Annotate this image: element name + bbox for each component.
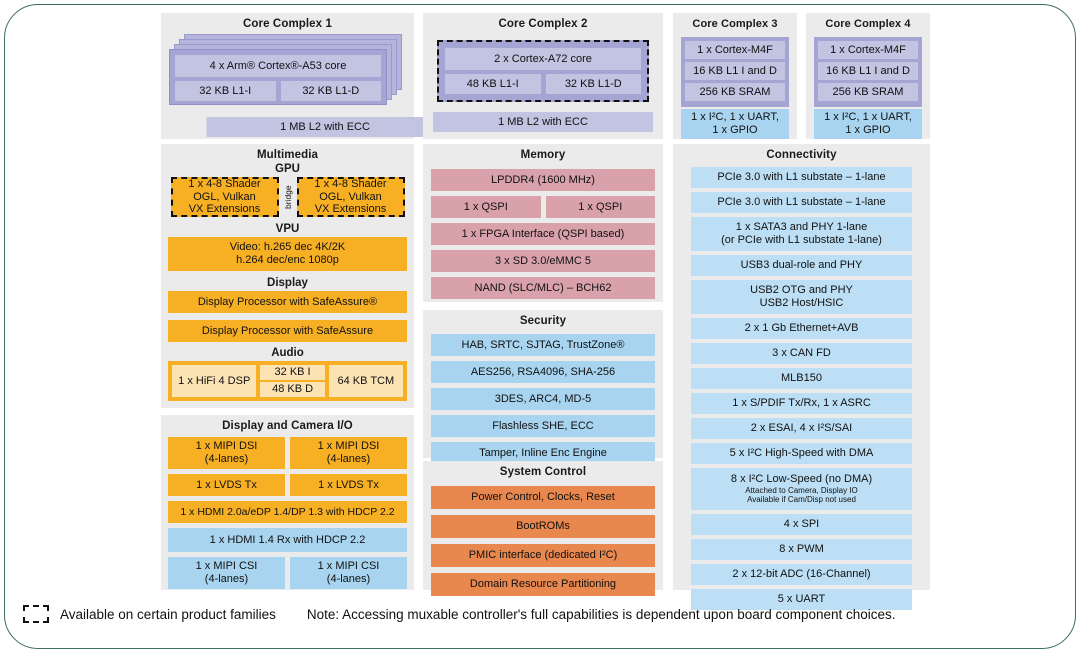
vpu-line1: Video: h.265 dec 4K/2K — [230, 241, 345, 254]
core-complex-1-title: Core Complex 1 — [161, 13, 414, 30]
connectivity-item-8: 1 x S/PDIF Tx/Rx, 1 x ASRC — [691, 393, 912, 414]
connectivity-item-4: USB2 OTG and PHYUSB2 Host/HSIC — [691, 280, 912, 314]
cc4-core-group: 1 x Cortex-M4F 16 KB L1 I and D 256 KB S… — [814, 37, 922, 107]
display-processor-1: Display Processor with SafeAssure® — [168, 291, 407, 313]
connectivity-item-10: 5 x I²C High-Speed with DMA — [691, 443, 912, 464]
panel-security: Security HAB, SRTC, SJTAG, TrustZone® AE… — [423, 310, 663, 458]
connectivity-item-4-line-1: USB2 Host/HSIC — [760, 297, 844, 310]
panel-multimedia: Multimedia GPU 1 x 4-8 Shader OGL, Vulka… — [161, 144, 414, 408]
cc2-core-box: 2 x Cortex-A72 core — [445, 48, 641, 70]
hdmi-rx-box: 1 x HDMI 1.4 Rx with HDCP 2.2 — [168, 528, 407, 552]
memory-item-lpddr4: LPDDR4 (1600 MHz) — [431, 169, 655, 191]
mipi-dsi-left: 1 x MIPI DSI (4-lanes) — [168, 437, 285, 469]
audio-dsp-box: 1 x HiFi 4 DSP — [172, 365, 256, 397]
diagram-frame: Core Complex 1 4 x Arm® Cortex®-A53 core… — [4, 4, 1076, 649]
dsi-left-line1: 1 x MIPI DSI — [196, 440, 258, 453]
panel-connectivity: Connectivity PCIe 3.0 with L1 substate –… — [673, 144, 930, 590]
memory-item-qspi-1: 1 x QSPI — [431, 196, 541, 218]
connectivity-item-5: 2 x 1 Gb Ethernet+AVB — [691, 318, 912, 339]
memory-item-fpga: 1 x FPGA Interface (QSPI based) — [431, 223, 655, 245]
audio-tcm-box: 64 KB TCM — [329, 365, 403, 397]
system-control-item-3: Domain Resource Partitioning — [431, 573, 655, 596]
core-complex-1-front-layer: 4 x Arm® Cortex®-A53 core 32 KB L1-I 32 … — [169, 49, 387, 105]
memory-item-nand: NAND (SLC/MLC) – BCH62 — [431, 277, 655, 299]
csi-left-line2: (4-lanes) — [205, 573, 248, 586]
cc4-io-line1: 1 x I²C, 1 x UART, — [824, 111, 912, 124]
connectivity-item-3-line-0: USB3 dual-role and PHY — [741, 259, 863, 272]
mipi-csi-right: 1 x MIPI CSI (4-lanes) — [290, 557, 407, 589]
gpu-left-line1: 1 x 4-8 Shader — [188, 178, 260, 191]
display-camera-io-title: Display and Camera I/O — [161, 415, 414, 432]
vpu-line2: h.264 dec/enc 1080p — [236, 254, 339, 267]
panel-core-complex-2: Core Complex 2 2 x Cortex-A72 core 48 KB… — [423, 13, 663, 139]
connectivity-item-14-line-0: 2 x 12-bit ADC (16-Channel) — [732, 568, 870, 581]
connectivity-item-11: 8 x I²C Low-Speed (no DMA)Attached to Ca… — [691, 468, 912, 510]
cc3-io-line1: 1 x I²C, 1 x UART, — [691, 111, 779, 124]
cc4-l1-box: 16 KB L1 I and D — [818, 62, 918, 80]
csi-right-line2: (4-lanes) — [327, 573, 370, 586]
dsi-right-line2: (4-lanes) — [327, 453, 370, 466]
connectivity-item-14: 2 x 12-bit ADC (16-Channel) — [691, 564, 912, 585]
cc3-core-group: 1 x Cortex-M4F 16 KB L1 I and D 256 KB S… — [681, 37, 789, 107]
connectivity-item-1: PCIe 3.0 with L1 substate – 1-lane — [691, 192, 912, 213]
system-control-item-0: Power Control, Clocks, Reset — [431, 486, 655, 509]
connectivity-item-12-line-0: 4 x SPI — [784, 518, 819, 531]
cc2-l2-box: 1 MB L2 with ECC — [433, 112, 653, 132]
legend-label: Available on certain product families — [60, 607, 276, 622]
security-item-0: HAB, SRTC, SJTAG, TrustZone® — [431, 334, 655, 356]
memory-item-qspi-2: 1 x QSPI — [546, 196, 656, 218]
connectivity-list: PCIe 3.0 with L1 substate – 1-lanePCIe 3… — [673, 161, 930, 610]
cc2-dashed-group: 2 x Cortex-A72 core 48 KB L1-I 32 KB L1-… — [437, 40, 649, 102]
cc4-io-line2: 1 x GPIO — [845, 124, 890, 137]
connectivity-item-8-line-0: 1 x S/PDIF Tx/Rx, 1 x ASRC — [732, 397, 871, 410]
gpu-right-line1: 1 x 4-8 Shader — [314, 178, 386, 191]
gpu-left-block: 1 x 4-8 Shader OGL, Vulkan VX Extensions — [171, 177, 279, 217]
connectivity-item-10-line-0: 5 x I²C High-Speed with DMA — [730, 447, 874, 460]
dsi-row: 1 x MIPI DSI (4-lanes) 1 x MIPI DSI (4-l… — [168, 437, 407, 469]
security-item-3: Flashless SHE, ECC — [431, 415, 655, 437]
gpu-left-line3: VX Extensions — [189, 203, 261, 216]
cc3-l1-box: 16 KB L1 I and D — [685, 62, 785, 80]
mipi-csi-left: 1 x MIPI CSI (4-lanes) — [168, 557, 285, 589]
memory-item-sd-emmc: 3 x SD 3.0/eMMC 5 — [431, 250, 655, 272]
cc3-core-box: 1 x Cortex-M4F — [685, 41, 785, 59]
system-control-title: System Control — [423, 461, 663, 478]
cc2-l1i-box: 48 KB L1-I — [445, 74, 541, 94]
csi-left-line1: 1 x MIPI CSI — [196, 560, 258, 573]
panel-core-complex-3: Core Complex 3 1 x Cortex-M4F 16 KB L1 I… — [673, 13, 797, 139]
lvds-tx-right: 1 x LVDS Tx — [290, 474, 407, 496]
system-control-item-1: BootROMs — [431, 515, 655, 538]
panel-memory: Memory LPDDR4 (1600 MHz) 1 x QSPI 1 x QS… — [423, 144, 663, 302]
connectivity-item-0: PCIe 3.0 with L1 substate – 1-lane — [691, 167, 912, 188]
security-title: Security — [423, 310, 663, 327]
vpu-block: Video: h.265 dec 4K/2K h.264 dec/enc 108… — [168, 237, 407, 271]
cc1-l1i-box: 32 KB L1-I — [175, 81, 276, 101]
gpu-label: GPU — [161, 161, 414, 177]
dsi-left-line2: (4-lanes) — [205, 453, 248, 466]
core-complex-2-title: Core Complex 2 — [423, 13, 663, 30]
core-complex-1-stack: 4 x Arm® Cortex®-A53 core 32 KB L1-I 32 … — [161, 30, 414, 102]
lvds-row: 1 x LVDS Tx 1 x LVDS Tx — [168, 474, 407, 496]
connectivity-item-13-line-0: 8 x PWM — [779, 543, 824, 556]
panel-core-complex-4: Core Complex 4 1 x Cortex-M4F 16 KB L1 I… — [806, 13, 930, 139]
gpu-right-line3: VX Extensions — [315, 203, 387, 216]
core-complex-3-title: Core Complex 3 — [673, 13, 797, 30]
panel-display-camera-io: Display and Camera I/O 1 x MIPI DSI (4-l… — [161, 415, 414, 590]
dashed-legend-swatch — [23, 605, 49, 623]
csi-row: 1 x MIPI CSI (4-lanes) 1 x MIPI CSI (4-l… — [168, 557, 407, 589]
cc3-io-line2: 1 x GPIO — [712, 124, 757, 137]
connectivity-item-2: 1 x SATA3 and PHY 1-lane(or PCIe with L1… — [691, 217, 912, 251]
mipi-dsi-right: 1 x MIPI DSI (4-lanes) — [290, 437, 407, 469]
cc4-core-box: 1 x Cortex-M4F — [818, 41, 918, 59]
connectivity-item-11-note-1: Available if Cam/Disp not used — [747, 495, 856, 504]
connectivity-item-12: 4 x SPI — [691, 514, 912, 535]
connectivity-item-9: 2 x ESAI, 4 x I²S/SAI — [691, 418, 912, 439]
cc1-l1-row: 32 KB L1-I 32 KB L1-D — [175, 81, 381, 101]
cc4-io-box: 1 x I²C, 1 x UART, 1 x GPIO — [814, 109, 922, 139]
cc4-sram-box: 256 KB SRAM — [818, 83, 918, 101]
csi-right-line1: 1 x MIPI CSI — [318, 560, 380, 573]
cc3-io-box: 1 x I²C, 1 x UART, 1 x GPIO — [681, 109, 789, 139]
lvds-tx-left: 1 x LVDS Tx — [168, 474, 285, 496]
footer-legend: Available on certain product families No… — [23, 605, 896, 623]
gpu-bridge-label: bridge — [279, 177, 297, 217]
multimedia-title: Multimedia — [161, 144, 414, 161]
connectivity-item-5-line-0: 2 x 1 Gb Ethernet+AVB — [745, 322, 859, 335]
security-item-2: 3DES, ARC4, MD-5 — [431, 388, 655, 410]
cc3-sram-box: 256 KB SRAM — [685, 83, 785, 101]
panel-system-control: System Control Power Control, Clocks, Re… — [423, 461, 663, 590]
system-control-item-2: PMIC interface (dedicated I²C) — [431, 544, 655, 567]
hdmi-tx-box: 1 x HDMI 2.0a/eDP 1.4/DP 1.3 with HDCP 2… — [168, 501, 407, 523]
footer-note: Note: Accessing muxable controller's ful… — [307, 607, 896, 622]
connectivity-item-2-line-0: 1 x SATA3 and PHY 1-lane — [736, 221, 867, 234]
cc2-l1d-box: 32 KB L1-D — [546, 74, 642, 94]
connectivity-item-0-line-0: PCIe 3.0 with L1 substate – 1-lane — [717, 171, 885, 184]
connectivity-item-11-note-0: Attached to Camera, Display IO — [745, 486, 858, 495]
panel-core-complex-1: Core Complex 1 4 x Arm® Cortex®-A53 core… — [161, 13, 414, 139]
audio-48kbd-box: 48 KB D — [260, 382, 324, 397]
connectivity-item-2-line-1: (or PCIe with L1 substate 1-lane) — [721, 234, 882, 247]
connectivity-item-9-line-0: 2 x ESAI, 4 x I²S/SAI — [751, 422, 852, 435]
vpu-label: VPU — [161, 217, 414, 237]
cc1-l2-box: 1 MB L2 with ECC — [207, 117, 444, 137]
audio-32kbi-box: 32 KB I — [260, 365, 324, 380]
connectivity-item-4-line-0: USB2 OTG and PHY — [750, 284, 853, 297]
dsi-right-line1: 1 x MIPI DSI — [318, 440, 380, 453]
connectivity-item-7: MLB150 — [691, 368, 912, 389]
connectivity-item-6: 3 x CAN FD — [691, 343, 912, 364]
display-processor-2: Display Processor with SafeAssure — [168, 320, 407, 342]
core-complex-4-title: Core Complex 4 — [806, 13, 930, 30]
memory-title: Memory — [423, 144, 663, 161]
connectivity-item-7-line-0: MLB150 — [781, 372, 822, 385]
gpu-right-line2: OGL, Vulkan — [319, 191, 382, 204]
cc2-l1-row: 48 KB L1-I 32 KB L1-D — [445, 74, 641, 94]
connectivity-item-6-line-0: 3 x CAN FD — [772, 347, 831, 360]
audio-group: 1 x HiFi 4 DSP 32 KB I 48 KB D 64 KB TCM — [168, 361, 407, 401]
cc1-l1d-box: 32 KB L1-D — [281, 81, 382, 101]
gpu-left-line2: OGL, Vulkan — [193, 191, 256, 204]
cc1-core-box: 4 x Arm® Cortex®-A53 core — [175, 55, 381, 77]
connectivity-item-11-line-0: 8 x I²C Low-Speed (no DMA) — [731, 473, 872, 486]
connectivity-item-3: USB3 dual-role and PHY — [691, 255, 912, 276]
memory-qspi-row: 1 x QSPI 1 x QSPI — [431, 196, 655, 218]
connectivity-title: Connectivity — [673, 144, 930, 161]
connectivity-item-1-line-0: PCIe 3.0 with L1 substate – 1-lane — [717, 196, 885, 209]
gpu-right-block: 1 x 4-8 Shader OGL, Vulkan VX Extensions — [297, 177, 405, 217]
connectivity-item-13: 8 x PWM — [691, 539, 912, 560]
display-label: Display — [161, 271, 414, 291]
security-item-1: AES256, RSA4096, SHA-256 — [431, 361, 655, 383]
audio-label: Audio — [161, 342, 414, 361]
